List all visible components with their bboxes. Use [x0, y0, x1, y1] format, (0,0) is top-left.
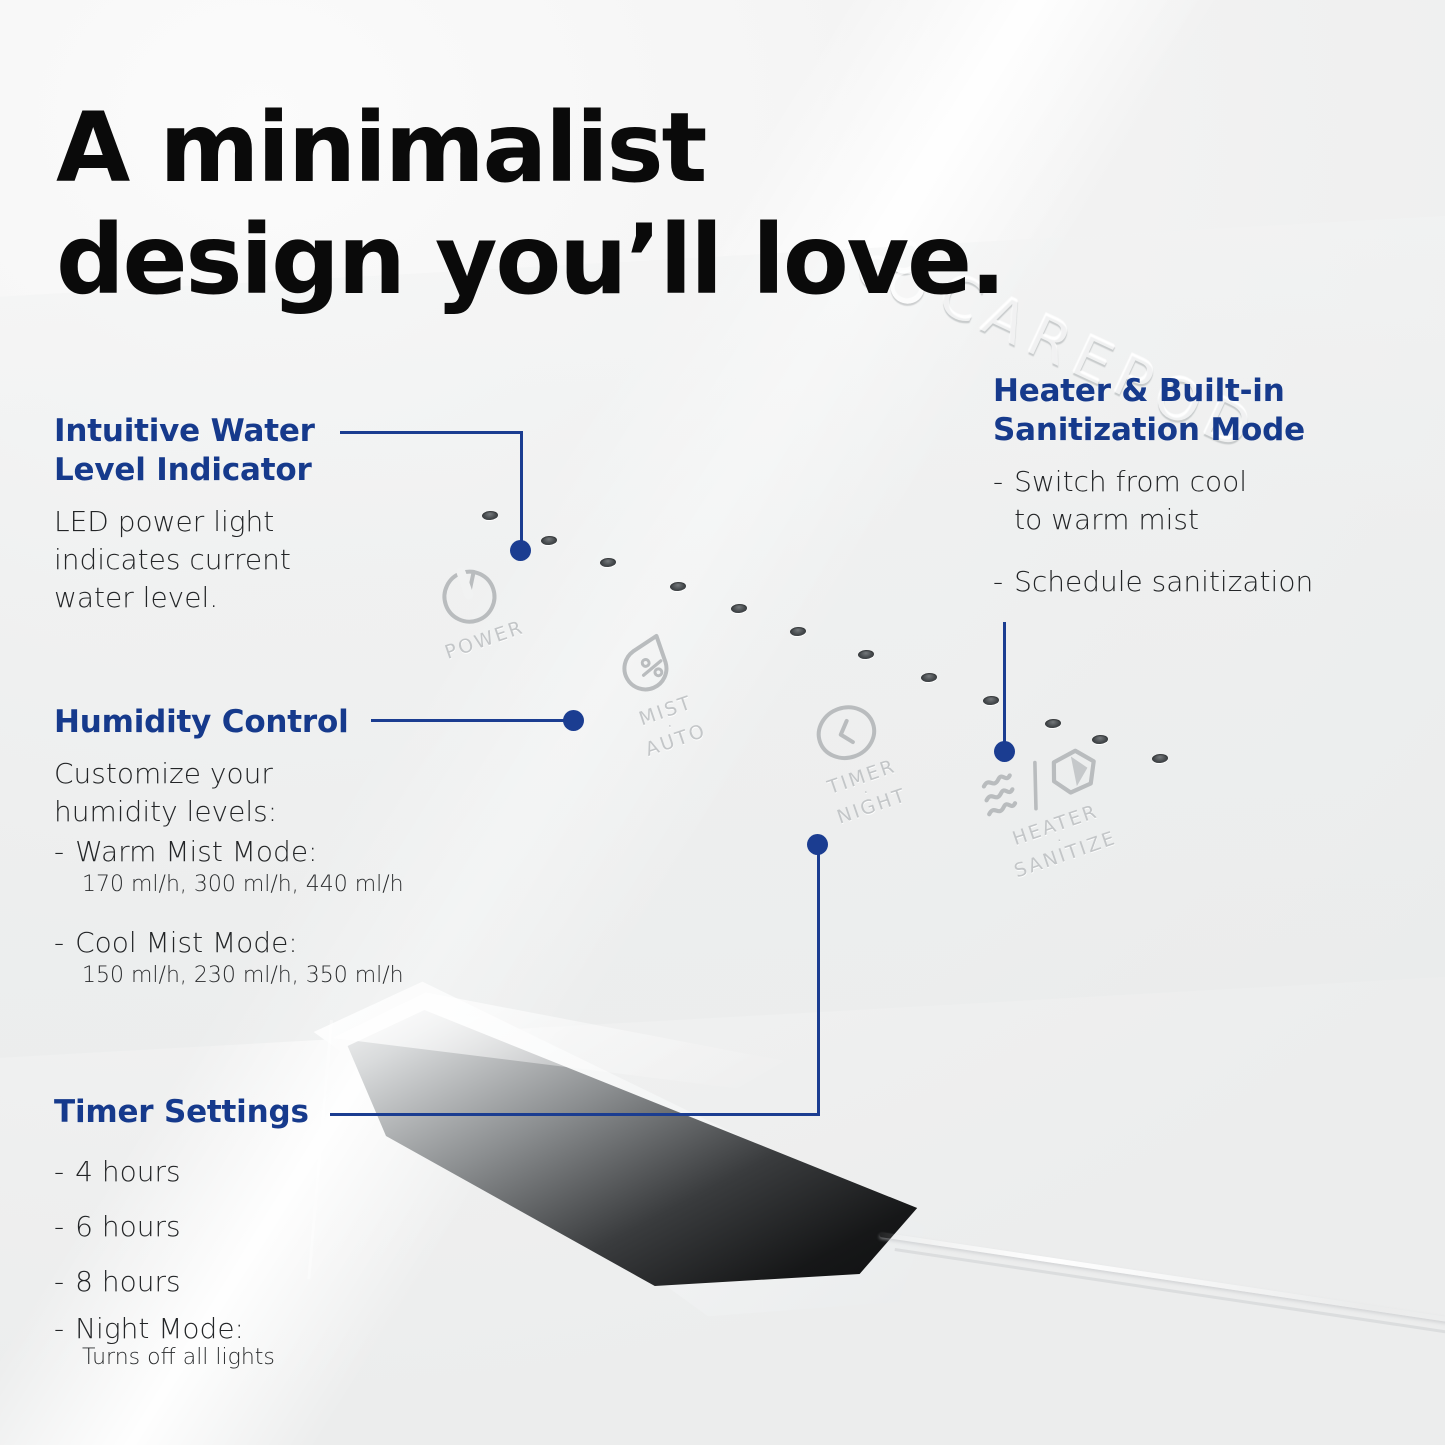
callout-water-level-body: LED power light indicates current water …	[54, 503, 364, 617]
connector-heater-vertical	[1003, 622, 1006, 748]
connector-water-level-vertical	[520, 431, 523, 548]
callout-timer-body: - 4 hours - 6 hours - 8 hours - Night Mo…	[54, 1145, 384, 1372]
callout-humidity-title: Humidity Control	[54, 703, 484, 742]
timer-item-detail: Turns off all lights	[82, 1344, 384, 1373]
heater-item: - Schedule sanitization	[993, 563, 1393, 601]
timer-item: - 8 hours	[54, 1255, 384, 1308]
slot-inner-edge	[307, 1020, 950, 1333]
callout-heater: Heater & Built-in Sanitization Mode - Sw…	[993, 372, 1393, 601]
infographic-canvas: CAREPOD A minimalist design you’ll love.…	[0, 0, 1445, 1445]
page-title: A minimalist design you’ll love.	[56, 92, 1036, 317]
connector-timer-horizontal	[330, 1113, 820, 1116]
connector-dot-humidity	[563, 710, 584, 731]
connector-dot-water-level	[510, 540, 531, 561]
timer-item: - 4 hours	[54, 1145, 384, 1198]
mist-outlet-slot	[300, 960, 980, 1320]
humidity-item-detail: 150 ml/h, 230 ml/h, 350 ml/h	[82, 962, 484, 991]
connector-dot-heater	[994, 741, 1015, 762]
timer-item: - 6 hours	[54, 1200, 384, 1253]
humidity-item: - Cool Mist Mode:	[54, 924, 484, 962]
connector-timer-vertical	[817, 845, 820, 1115]
callout-water-level-title: Intuitive Water Level Indicator	[54, 412, 364, 490]
connector-dot-timer	[807, 834, 828, 855]
callout-timer-title: Timer Settings	[54, 1093, 384, 1132]
headline-line-2: design you’ll love.	[56, 204, 1036, 316]
connector-water-level-horizontal	[340, 431, 523, 434]
callout-humidity-body: Customize your humidity levels: - Warm M…	[54, 755, 484, 991]
heater-item: - Switch from cool to warm mist	[993, 463, 1393, 539]
headline-line-1: A minimalist	[56, 92, 1036, 204]
callout-water-level: Intuitive Water Level Indicator LED powe…	[54, 412, 364, 617]
humidity-item: - Warm Mist Mode:	[54, 833, 484, 871]
callout-heater-body: - Switch from cool to warm mist - Schedu…	[993, 463, 1393, 601]
timer-item: - Night Mode:	[54, 1311, 384, 1346]
callout-humidity: Humidity Control Customize your humidity…	[54, 703, 484, 991]
callout-heater-title: Heater & Built-in Sanitization Mode	[993, 372, 1393, 450]
humidity-item-detail: 170 ml/h, 300 ml/h, 440 ml/h	[82, 871, 484, 900]
callout-timer: Timer Settings - 4 hours - 6 hours - 8 h…	[54, 1093, 384, 1372]
